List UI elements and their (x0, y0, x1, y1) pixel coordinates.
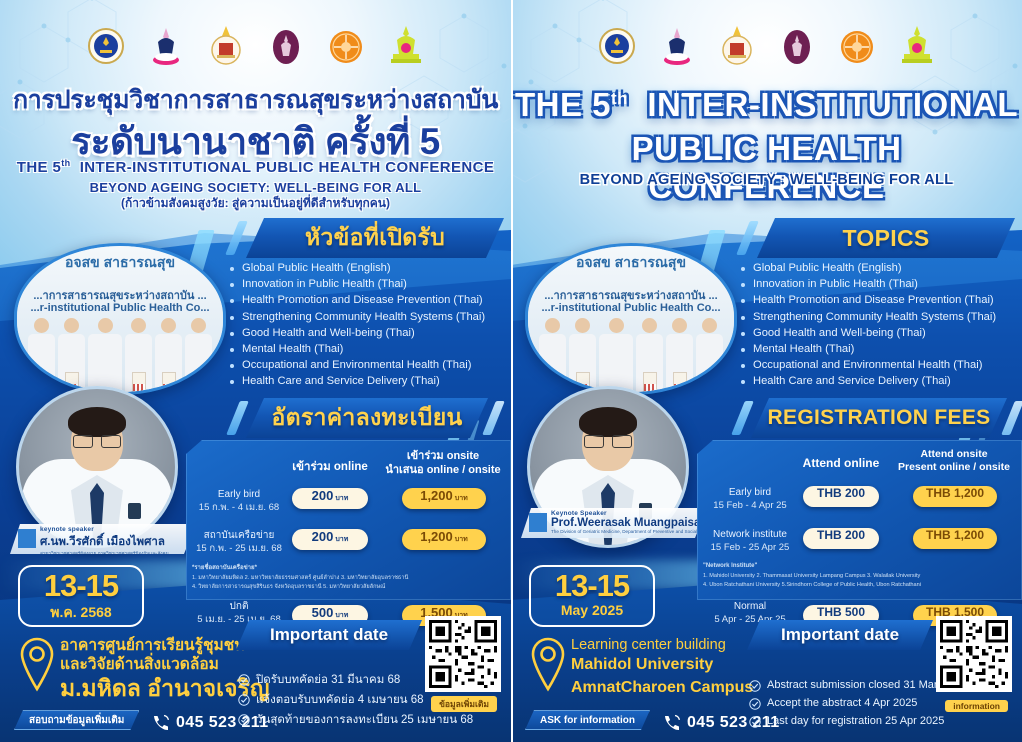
speaker-kicker: Keynote Speaker (551, 510, 701, 517)
note-title: "Network Institute" (703, 562, 1018, 572)
amnatcharoen-campus-logo (386, 24, 426, 70)
registration-fees-table: เข้าร่วม online เข้าร่วม onsite นำเสนอ o… (186, 440, 511, 600)
fees-column2-header: Attend onsite Present online / onsite (895, 448, 1013, 474)
topics-heading-banner: หัวข้อที่เปิดรับ (246, 218, 504, 258)
fees-column2-header-line1: Attend onsite (895, 448, 1013, 461)
currency: บาท (455, 534, 468, 545)
qr-caption-badge: ข้อมูลเพิ่มเติม (431, 696, 497, 712)
amount: 200 (312, 488, 334, 503)
eyeglasses-icon (584, 435, 632, 448)
thammasat-university-logo (657, 24, 697, 70)
fees-column2-header-line2: นำเสนอ online / onsite (384, 464, 502, 478)
list-item: Strengthening Community Health Systems (… (228, 311, 500, 323)
fee-tier-name: สถาบันเครือข่าย (190, 529, 288, 543)
fee-tier-name: Network institute (701, 528, 799, 542)
amount: THB 1,200 (926, 486, 984, 500)
attendee (155, 318, 182, 392)
backdrop-center-mark: อจสข สาธารณสุข (65, 252, 175, 274)
title-prefix: THE 5 (515, 86, 611, 123)
group-photo: ◉ อจสข สาธารณสุข ◉ ...าการสาธารณสุขระหว่… (525, 243, 737, 395)
fees-heading-label: REGISTRATION FEES (768, 406, 991, 430)
currency: บาท (335, 610, 348, 621)
fee-row-label: Early bird 15 Feb - 4 Apr 25 (701, 486, 799, 512)
amount: THB 200 (817, 486, 865, 500)
english-poster: THE 5th INTER-INSTITUTIONAL PUBLIC HEALT… (511, 0, 1022, 742)
event-day-range: 13-15 (531, 570, 653, 602)
amount: 200 (312, 529, 334, 544)
fee-onsite-amount: THB 1,200 (913, 486, 997, 507)
keynote-speaker-photo (16, 386, 178, 548)
qr-code[interactable] (425, 616, 501, 692)
attendee (28, 318, 55, 392)
backdrop-title-english: ...r-institutional Public Health Co... (528, 302, 734, 314)
tagline: BEYOND AGEING SOCIETY : WELL-BEING FOR A… (511, 172, 1022, 188)
list-item: Last day for registration 25 Apr 2025 (749, 712, 1017, 730)
topics-list: Global Public Health (English) Innovatio… (228, 262, 500, 392)
attendee (599, 318, 633, 392)
fee-tier-dates: 15 Feb - 25 Apr 25 (711, 542, 790, 553)
page-title-line2: PUBLIC HEALTH CONFERENCE (511, 130, 1022, 206)
list-item: Occupational and Environmental Health (T… (228, 359, 500, 371)
list-item: Global Public Health (English) (228, 262, 500, 274)
amount: THB 500 (817, 605, 865, 619)
tagline-thai: (ก้าวข้ามสังคมสูงวัย: สู่ความเป็นอยู่ที่… (0, 194, 511, 213)
list-item: Occupational and Environmental Health (T… (739, 359, 1011, 371)
check-circle-icon (749, 716, 761, 728)
location-pin-icon (16, 636, 58, 692)
item-label: แจ้งตอบรับบทคัดย่อ 4 เมษายน 68 (256, 694, 424, 706)
subtitle-english: THE 5th INTER-INSTITUTIONAL PUBLIC HEALT… (0, 158, 511, 176)
qr-code-image (940, 620, 1008, 688)
ubon-ratchathani-university-logo (206, 24, 246, 70)
fee-tier-dates: 15 ก.พ. - 4 เม.ย. 68 (199, 502, 279, 513)
backdrop-right-mark: ◉ (201, 258, 209, 269)
topics-list: Global Public Health (English) Innovatio… (739, 262, 1011, 392)
backdrop-left-mark: ◉ (542, 258, 550, 269)
backdrop-left-mark: ◉ (31, 258, 39, 269)
check-circle-icon (238, 674, 250, 686)
list-item: Health Care and Service Delivery (Thai) (228, 375, 500, 387)
amount: 1,200 (420, 488, 453, 503)
topics-heading-label: หัวข้อที่เปิดรับ (305, 220, 445, 256)
amount: THB 200 (817, 528, 865, 542)
currency: บาท (335, 534, 348, 545)
topics-heading-banner: TOPICS (757, 218, 1015, 258)
walailak-university-logo (326, 24, 366, 70)
attendee (569, 318, 596, 392)
backdrop-center-mark: อจสข สาธารณสุข (576, 252, 686, 274)
note-line2: 4. Ubon Ratchathani University 5.Sirindh… (703, 581, 1018, 590)
title-ordinal: th (611, 89, 628, 108)
title-line1-rest: INTER-INSTITUTIONAL (647, 86, 1018, 123)
eyeglasses-icon (73, 435, 121, 448)
list-item: Health Promotion and Disease Prevention … (228, 294, 500, 306)
fee-tier-dates: 15 Feb - 4 Apr 25 (713, 500, 786, 511)
fees-column2-header: เข้าร่วม onsite นำเสนอ online / onsite (384, 450, 502, 478)
list-item: Good Health and Well-being (Thai) (739, 327, 1011, 339)
attendee (636, 318, 663, 392)
fee-online-amount: 200 บาท (292, 488, 368, 509)
attendee (666, 318, 693, 392)
fees-column1-header: Attend online (795, 456, 887, 470)
sirindhorn-college-public-health-logo (266, 24, 306, 70)
attendee (539, 318, 566, 392)
backdrop-logo-row: ◉ อจสข สาธารณสุข ◉ (17, 252, 223, 274)
important-date-heading: Important date (270, 625, 388, 645)
list-item: Good Health and Well-being (Thai) (228, 327, 500, 339)
backdrop-title-english: ...r-institutional Public Health Co... (17, 302, 223, 314)
item-label: วันสุดท้ายของการลงทะเบียน 25 เมษายน 68 (256, 714, 473, 726)
event-date-badge: 13-15 May 2025 (529, 565, 655, 627)
fee-online-amount: THB 200 (803, 486, 879, 507)
speaker-kicker: keynote speaker (40, 526, 190, 533)
page-title-line1: THE 5th INTER-INSTITUTIONAL (511, 86, 1022, 124)
group-photo-backdrop: ◉ อจสข สาธารณสุข ◉ ...าการสาธารณสุขระหว่… (17, 246, 223, 392)
attendee (185, 318, 212, 392)
fee-onsite-amount: THB 1,200 (913, 528, 997, 549)
phone-icon (661, 713, 681, 733)
list-item: Innovation in Public Health (Thai) (739, 278, 1011, 290)
fee-tier-dates: 15 ก.พ. - 25 เม.ย. 68 (196, 543, 282, 554)
list-item: Global Public Health (English) (739, 262, 1011, 274)
attendee (696, 318, 723, 392)
check-circle-icon (238, 714, 250, 726)
fee-onsite-amount: 1,200 บาท (402, 529, 486, 550)
attendee (88, 318, 122, 392)
qr-code[interactable] (936, 616, 1012, 692)
backdrop-logo-row: ◉ อจสข สาธารณสุข ◉ (528, 252, 734, 274)
subtitle-prefix: THE 5 (17, 159, 62, 176)
fee-onsite-amount: 1,200 บาท (402, 488, 486, 509)
ubon-ratchathani-university-logo (717, 24, 757, 70)
amount: 1,200 (420, 529, 453, 544)
sirindhorn-college-public-health-logo (777, 24, 817, 70)
speaker-name: ศ.นพ.วีรศักดิ์ เมืองไพศาล (40, 533, 190, 551)
keynote-speaker-nameplate: keynote speaker ศ.นพ.วีรศักดิ์ เมืองไพศา… (10, 524, 196, 554)
phone-icon (150, 713, 170, 733)
fee-row-label: Network institute 15 Feb - 25 Apr 25 (701, 528, 799, 554)
fees-column2-header-line1: เข้าร่วม onsite (384, 450, 502, 464)
poster-pair: การประชุมวิชาการสาธารณสุขระหว่างสถาบัน ร… (0, 0, 1022, 742)
topics-heading-label: TOPICS (842, 225, 929, 252)
item-label: Accept the abstract 4 Apr 2025 (767, 697, 917, 709)
note-line2: 4. วิทยาลัยการสาธารณสุขสิรินธร จังหวัดอุ… (192, 583, 507, 592)
event-day-range: 13-15 (20, 570, 142, 602)
poster-divider (511, 0, 513, 742)
mahidol-university-logo (86, 24, 126, 70)
list-item: Health Care and Service Delivery (Thai) (739, 375, 1011, 387)
fees-heading-label: อัตราค่าลงทะเบียน (271, 400, 462, 436)
list-item: Strengthening Community Health Systems (… (739, 311, 1011, 323)
qr-caption-badge: information (945, 700, 1008, 712)
institution-logo-row (511, 24, 1022, 70)
list-item: Innovation in Public Health (Thai) (228, 278, 500, 290)
fee-tier-name: Early bird (701, 486, 799, 500)
backdrop-right-mark: ◉ (712, 258, 720, 269)
registration-fees-table: Attend online Attend onsite Present onli… (697, 440, 1022, 600)
fees-column2-header-line2: Present online / onsite (895, 461, 1013, 474)
fee-tier-name: Early bird (190, 488, 288, 502)
fees-heading-banner: อัตราค่าลงทะเบียน (246, 398, 488, 438)
item-label: ปิดรับบทคัดย่อ 31 มีนาคม 68 (256, 674, 400, 686)
nameplate-accent (529, 513, 547, 532)
attendee-group (532, 314, 730, 392)
location-pin-icon (527, 636, 569, 692)
currency: บาท (335, 493, 348, 504)
walailak-university-logo (837, 24, 877, 70)
fee-online-amount: THB 200 (803, 528, 879, 549)
check-circle-icon (749, 698, 761, 710)
group-photo-backdrop: ◉ อจสข สาธารณสุข ◉ ...าการสาธารณสุขระหว่… (528, 246, 734, 392)
amnatcharoen-campus-logo (897, 24, 937, 70)
fee-tier-name: ปกติ (190, 600, 288, 614)
ask-for-information-button[interactable]: สอบถามข้อมูลเพิ่มเติม (14, 710, 139, 730)
attendee (125, 318, 152, 392)
attendee (58, 318, 85, 392)
event-month-year: May 2025 (531, 602, 653, 618)
thai-poster: การประชุมวิชาการสาธารณสุขระหว่างสถาบัน ร… (0, 0, 511, 742)
fees-heading-banner: REGISTRATION FEES (751, 398, 1007, 438)
list-item: Mental Health (Thai) (228, 343, 500, 355)
item-label: Last day for registration 25 Apr 2025 (767, 715, 944, 727)
note-title: *รายชื่อสถาบันเครือข่าย* (192, 564, 507, 574)
thammasat-university-logo (146, 24, 186, 70)
keynote-speaker-nameplate: Keynote Speaker Prof.Weerasak Muangpaisa… (521, 508, 707, 538)
ask-for-information-button[interactable]: ASK for information (525, 710, 650, 730)
subtitle-main: INTER-INSTITUTIONAL PUBLIC HEALTH CONFER… (80, 159, 495, 176)
list-item: วันสุดท้ายของการลงทะเบียน 25 เมษายน 68 (238, 710, 506, 730)
note-line1: 1. มหาวิทยาลัยมหิดล 2. มหาวิทยาลัยธรรมศา… (192, 574, 507, 583)
event-date-badge: 13-15 พ.ค. 2568 (18, 565, 144, 627)
attendee-group (21, 314, 219, 392)
currency: บาท (455, 493, 468, 504)
network-institute-note: *รายชื่อสถาบันเครือข่าย* 1. มหาวิทยาลัยม… (192, 564, 507, 591)
event-month-year: พ.ค. 2568 (20, 602, 142, 624)
important-date-banner: Important date (236, 620, 422, 650)
fee-row-label: Early bird 15 ก.พ. - 4 เม.ย. 68 (190, 488, 288, 514)
qr-code-image (429, 620, 497, 688)
speaker-affiliation: The Division of Geriatric Medicine, Depa… (551, 529, 701, 534)
nameplate-accent (18, 529, 36, 548)
check-circle-icon (238, 694, 250, 706)
network-institute-note: "Network Institute" 1. Mahidol Universit… (703, 562, 1018, 589)
fee-row-label: สถาบันเครือข่าย 15 ก.พ. - 25 เม.ย. 68 (190, 529, 288, 555)
check-circle-icon (749, 680, 761, 692)
mahidol-university-logo (597, 24, 637, 70)
subtitle-ordinal: th (61, 158, 70, 168)
amount: 500 (312, 605, 334, 620)
venue-line2: Mahidol University (571, 655, 811, 674)
tagline-english: BEYOND AGEING SOCIETY: WELL-BEING FOR AL… (0, 180, 511, 195)
note-line1: 1. Mahidol University 2. Thammasat Unive… (703, 572, 1018, 581)
fee-tier-name: Normal (701, 600, 799, 614)
important-date-heading: Important date (781, 625, 899, 645)
fee-online-amount: 200 บาท (292, 529, 368, 550)
list-item: Mental Health (Thai) (739, 343, 1011, 355)
important-date-banner: Important date (747, 620, 933, 650)
list-item: Health Promotion and Disease Prevention … (739, 294, 1011, 306)
group-photo: ◉ อจสข สาธารณสุข ◉ ...าการสาธารณสุขระหว่… (14, 243, 226, 395)
fees-column1-header: เข้าร่วม online (284, 458, 376, 476)
institution-logo-row (0, 24, 511, 70)
speaker-name: Prof.Weerasak Muangpaisan (551, 517, 701, 529)
amount: THB 1,200 (926, 528, 984, 542)
